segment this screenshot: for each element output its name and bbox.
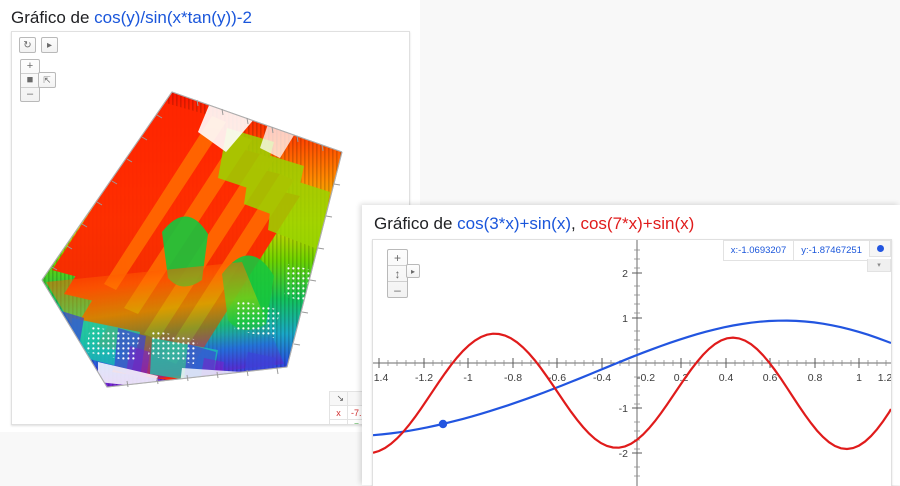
svg-text:2: 2 (622, 268, 628, 280)
plot2d-title-prefix: Gráfico de (374, 214, 457, 233)
play-icon[interactable]: ▸ (406, 264, 420, 278)
svg-text:1: 1 (856, 372, 862, 384)
play-icon[interactable]: ▸ (41, 37, 58, 53)
plot2d-expression-1: cos(3*x)+sin(x) (457, 214, 571, 233)
svg-text:-0.4: -0.4 (593, 372, 611, 384)
axis-label-y: y (330, 420, 348, 426)
camera-icon[interactable]: ■ (21, 73, 39, 87)
plot3d-panel: Gráfico de cos(y)/sin(x*tan(y))-2 (0, 0, 420, 432)
coordinate-y-value: -1.87467251 (809, 245, 862, 256)
zoom-out-icon[interactable]: – (388, 281, 407, 297)
svg-text:0.6: 0.6 (763, 372, 778, 384)
axis-label-x: x (330, 406, 348, 420)
plot3d-surface[interactable] (12, 32, 409, 424)
series-marker-point[interactable] (439, 420, 447, 428)
svg-text:-0.8: -0.8 (504, 372, 522, 384)
x-tick-labels: 1.4 -1.2 -1 -0.8 -0.6 -0.4 -0.2 0.2 0.4 … (374, 372, 891, 384)
table-corner-label: ↘ (330, 392, 348, 406)
coordinate-y-label: y: (801, 245, 808, 256)
readout-expand-caret[interactable]: ▾ (867, 259, 891, 272)
coordinate-x-value: -1.0693207 (738, 245, 786, 256)
svg-text:1: 1 (622, 313, 628, 325)
svg-text:-2: -2 (619, 448, 628, 460)
plot2d-expression-2: cos(7*x)+sin(x) (580, 214, 694, 233)
svg-text:-0.2: -0.2 (637, 372, 655, 384)
plot2d-zoom-controls[interactable]: + ↕ – (387, 249, 408, 298)
plot3d-toolbar-top[interactable]: ↻ ▸ (19, 37, 58, 53)
coordinate-x[interactable]: x: -1.0693207 (723, 240, 793, 261)
zoom-out-icon[interactable]: – (21, 87, 39, 101)
svg-text:-1: -1 (463, 372, 472, 384)
point-color-swatch[interactable] (869, 240, 891, 257)
plot3d-title: Gráfico de cos(y)/sin(x*tan(y))-2 (11, 8, 252, 28)
plot3d-canvas-frame[interactable]: ↻ ▸ + ■ – ⇱ ↘ De x -7.142 y -7.142 (11, 31, 410, 425)
blue-dot-icon (877, 245, 884, 252)
coordinate-readout: x: -1.0693207 y: -1.87467251 (723, 240, 891, 261)
coordinate-y[interactable]: y: -1.87467251 (793, 240, 869, 261)
plot2d-panel: Gráfico de cos(3*x)+sin(x), cos(7*x)+sin… (362, 205, 900, 485)
plot2d-canvas-frame[interactable]: 1.4 -1.2 -1 -0.8 -0.6 -0.4 -0.2 0.2 0.4 … (372, 239, 892, 486)
plot3d-title-prefix: Gráfico de (11, 8, 94, 27)
rotate-icon[interactable]: ↻ (19, 37, 36, 53)
zoom-in-icon[interactable]: + (21, 60, 39, 73)
svg-text:-1.2: -1.2 (415, 372, 433, 384)
plot3d-expression: cos(y)/sin(x*tan(y))-2 (94, 8, 252, 27)
axes-icon[interactable]: ⇱ (38, 72, 56, 88)
plot2d-chart[interactable]: 1.4 -1.2 -1 -0.8 -0.6 -0.4 -0.2 0.2 0.4 … (373, 240, 891, 486)
svg-text:0.8: 0.8 (808, 372, 823, 384)
zoom-in-icon[interactable]: + (388, 250, 407, 265)
svg-text:-1: -1 (619, 403, 628, 415)
coordinate-x-label: x: (731, 245, 738, 256)
svg-text:1.4: 1.4 (374, 372, 389, 384)
plot3d-zoom-controls[interactable]: + ■ – (20, 59, 40, 102)
svg-text:1.2: 1.2 (878, 372, 891, 384)
plot2d-title: Gráfico de cos(3*x)+sin(x), cos(7*x)+sin… (374, 214, 694, 234)
svg-text:0.4: 0.4 (719, 372, 734, 384)
pan-icon[interactable]: ↕ (388, 265, 407, 281)
series-line-red (373, 334, 891, 453)
